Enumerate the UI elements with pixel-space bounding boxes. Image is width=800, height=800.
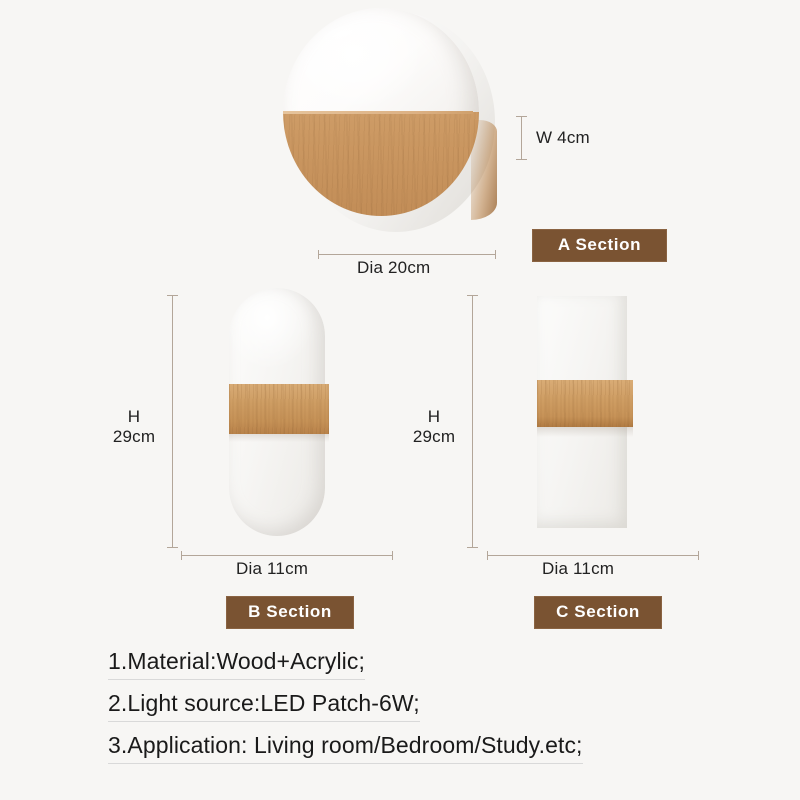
dimension-line-a-width [521, 116, 522, 160]
dimension-line-a-diameter [318, 254, 496, 255]
lamp-a-wood-top-edge [283, 111, 473, 114]
badge-a-section: A Section [532, 229, 667, 262]
lamp-a-wood-surface [283, 112, 479, 216]
dimension-label-c-diameter: Dia 11cm [542, 559, 614, 579]
lamp-c-band-shadow [537, 427, 633, 437]
spec-row: 2.Light source:LED Patch-6W; [108, 690, 708, 732]
dimension-line-b-height [172, 295, 173, 548]
dimension-label-c-height-line1: H [404, 407, 464, 427]
spec-item-light-source: 2.Light source:LED Patch-6W; [108, 690, 420, 722]
lamp-a-section-round [283, 8, 499, 236]
dimension-line-c-diameter [487, 555, 699, 556]
dimension-label-c-height: H 29cm [404, 407, 464, 447]
lamp-b-band-shadow [229, 434, 329, 442]
lamp-a-wood-half [283, 112, 479, 224]
product-spec-diagram: W 4cm Dia 20cm A Section H 29cm Dia 11cm… [0, 0, 800, 800]
spec-row: 3.Application: Living room/Bedroom/Study… [108, 732, 708, 774]
specification-list: 1.Material:Wood+Acrylic; 2.Light source:… [108, 648, 708, 774]
spec-item-application: 3.Application: Living room/Bedroom/Study… [108, 732, 583, 764]
dimension-label-a-diameter: Dia 20cm [357, 258, 430, 278]
dimension-line-c-height [472, 295, 473, 548]
dimension-label-b-height: H 29cm [104, 407, 164, 447]
lamp-c-section-rectangle [537, 296, 627, 528]
badge-c-section: C Section [534, 596, 662, 629]
dimension-label-a-width: W 4cm [536, 128, 590, 148]
dimension-label-c-height-line2: 29cm [404, 427, 464, 447]
spec-row: 1.Material:Wood+Acrylic; [108, 648, 708, 690]
lamp-b-wood-band [229, 384, 329, 434]
lamp-c-wood-band [537, 380, 633, 427]
spec-item-material: 1.Material:Wood+Acrylic; [108, 648, 365, 680]
dimension-label-b-height-line2: 29cm [104, 427, 164, 447]
badge-b-section: B Section [226, 596, 354, 629]
dimension-line-b-diameter [181, 555, 393, 556]
dimension-label-b-height-line1: H [104, 407, 164, 427]
dimension-label-b-diameter: Dia 11cm [236, 559, 308, 579]
lamp-b-section-capsule [229, 288, 325, 536]
